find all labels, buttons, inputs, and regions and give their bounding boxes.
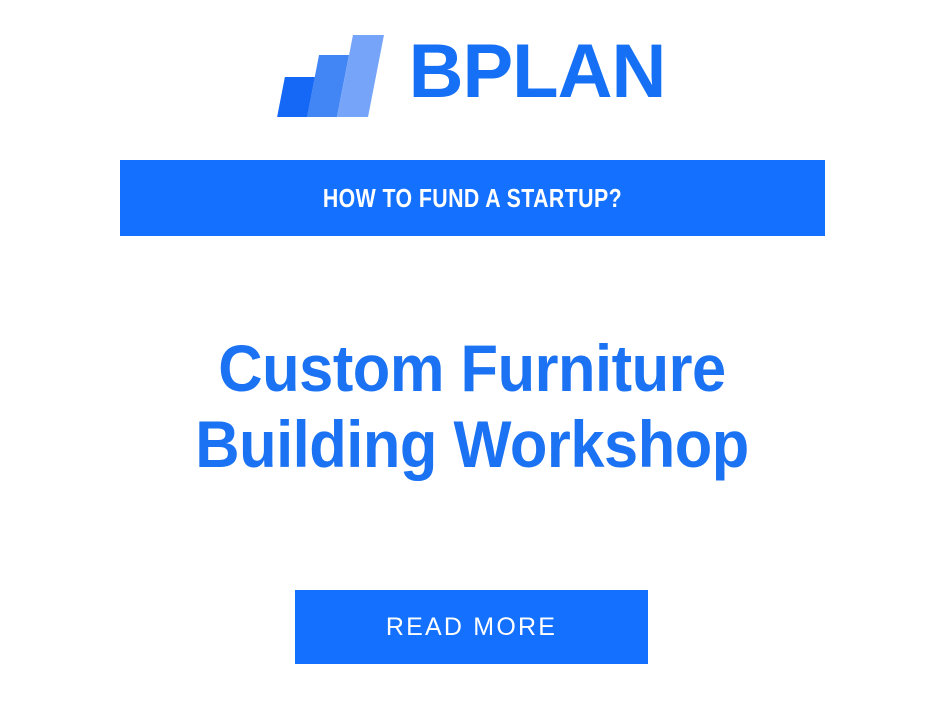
category-banner-text: How to Fund a Startup? [323, 183, 622, 214]
brand-name: BPLAN [409, 34, 666, 114]
page-title: Custom Furniture Building Workshop [72, 330, 872, 482]
bar-chart-logo-icon [279, 31, 383, 117]
category-banner: How to Fund a Startup? [120, 160, 825, 236]
page-title-line-1: Custom Furniture [100, 330, 844, 406]
promo-card: BPLAN How to Fund a Startup? Custom Furn… [0, 0, 944, 708]
page-title-line-2: Building Workshop [100, 406, 844, 482]
read-more-button[interactable]: Read More [295, 590, 648, 664]
brand-logo: BPLAN [0, 26, 944, 122]
read-more-label: Read More [386, 613, 557, 642]
